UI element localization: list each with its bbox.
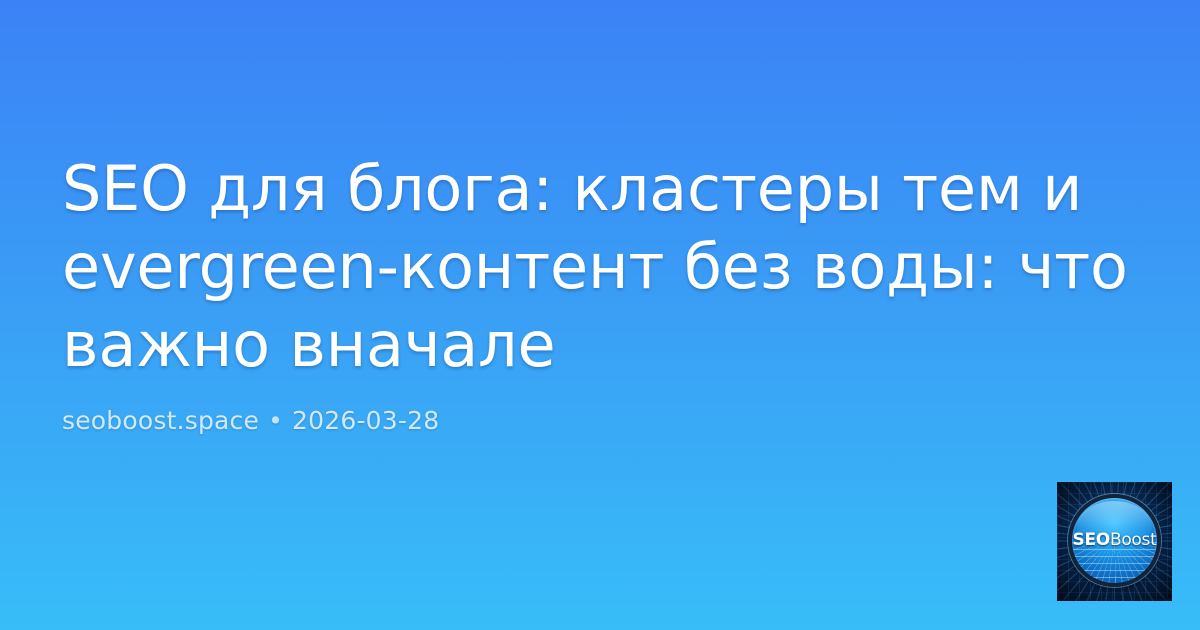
site-domain: seoboost.space [62, 406, 259, 435]
content-block: SEO для блога: кластеры тем и evergreen-… [62, 150, 1144, 436]
logo-wordmark-seo: SEO [1073, 530, 1110, 550]
page-title: SEO для блога: кластеры тем и evergreen-… [62, 150, 1144, 384]
og-card: SEO для блога: кластеры тем и evergreen-… [0, 0, 1200, 630]
logo-wordmark-boost: Boost [1110, 530, 1157, 550]
meta-separator: • [259, 406, 292, 435]
seoboost-logo: SEOBoost [1057, 482, 1172, 601]
meta-line: seoboost.space•2026-03-28 [62, 406, 1144, 436]
logo-wordmark: SEOBoost [1072, 532, 1157, 549]
logo-orb-icon: SEOBoost [1068, 494, 1161, 587]
publish-date: 2026-03-28 [292, 406, 439, 435]
